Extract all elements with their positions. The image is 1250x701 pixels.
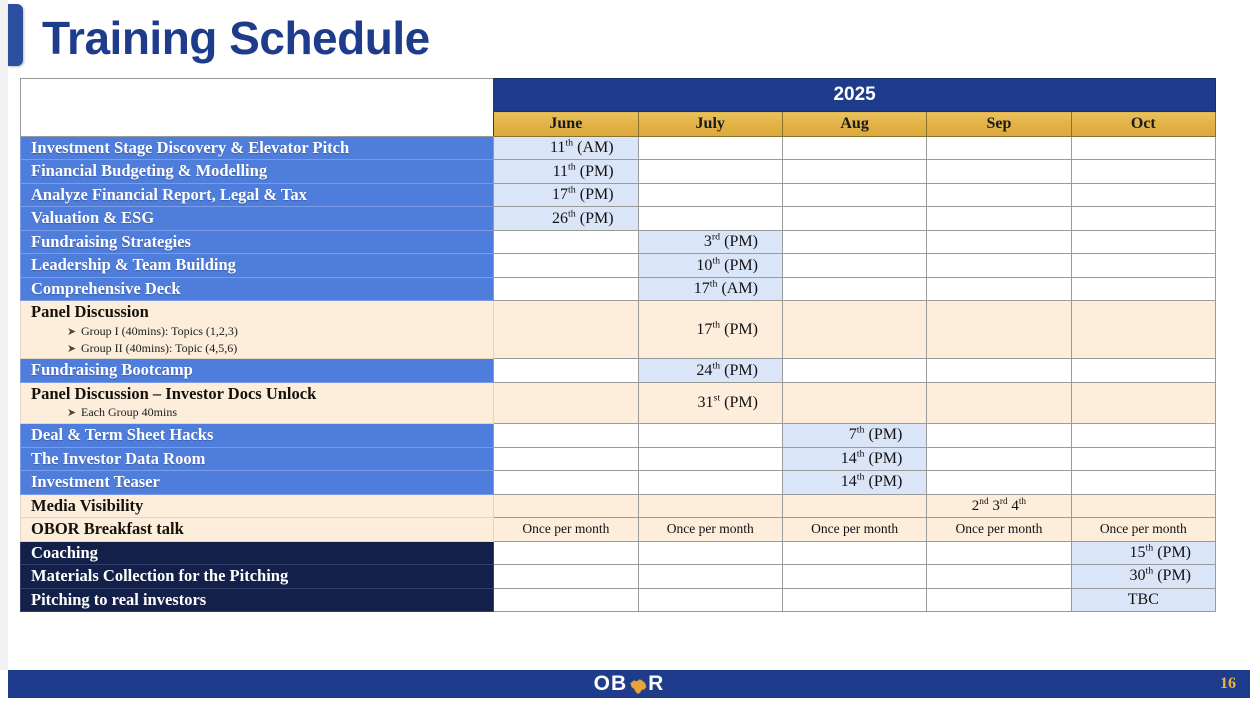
schedule-cell-july [638,424,782,447]
schedule-cell-july [638,207,782,230]
schedule-cell-sep [927,230,1071,253]
topic-cell: Deal & Term Sheet Hacks [21,424,494,447]
table-row: Fundraising Strategies 3rd (PM) [21,230,1216,253]
topic-cell: Coaching [21,541,494,564]
date-label: 17th (AM) [694,280,758,297]
table-row: Materials Collection for the Pitching 30… [21,565,1216,588]
multi-date-label: 2nd 3rd 4th [972,498,1026,514]
schedule-cell-aug: Once per month [782,518,926,541]
schedule-cell-aug [782,359,926,382]
slide-footer: OB R 16 [8,670,1250,698]
schedule-cell-oct [1071,471,1215,494]
date-label: 26th (PM) [552,210,614,227]
schedule-cell-aug [782,137,926,160]
header-row-year: 2025 [21,79,1216,112]
schedule-cell-aug [782,160,926,183]
topic-label: Panel Discussion – Investor Docs Unlock [31,385,489,403]
month-header-june: June [494,112,638,137]
date-label: 17th (PM) [552,186,614,203]
schedule-cell-sep [927,588,1071,611]
topic-cell: Analyze Financial Report, Legal & Tax [21,183,494,206]
schedule-cell-june [494,471,638,494]
logo-text-left: OB [594,672,628,696]
schedule-cell-sep [927,137,1071,160]
schedule-cell-july [638,137,782,160]
topic-sub-list: ➤Each Group 40mins [31,404,489,421]
date-label: 3rd (PM) [704,233,758,250]
topic-cell: Fundraising Strategies [21,230,494,253]
topic-label: Valuation & ESG [31,209,489,227]
schedule-cell-sep [927,424,1071,447]
schedule-cell-oct [1071,254,1215,277]
topic-label: Fundraising Strategies [31,233,489,251]
topic-sub-list: ➤Group I (40mins): Topics (1,2,3)➤Group … [31,323,489,357]
month-header-aug: Aug [782,112,926,137]
topic-cell: The Investor Data Room [21,447,494,470]
schedule-cell-oct [1071,207,1215,230]
schedule-cell-june [494,230,638,253]
topic-label: Materials Collection for the Pitching [31,567,489,585]
slide-canvas: Training Schedule 2025 JuneJulyAugSepOct… [0,0,1250,698]
schedule-cell-july [638,447,782,470]
arrow-bullet-icon: ➤ [67,406,81,421]
schedule-cell-oct [1071,183,1215,206]
arrow-bullet-icon: ➤ [67,325,81,340]
schedule-cell-aug: 14th (PM) [782,447,926,470]
schedule-cell-aug [782,382,926,423]
schedule-cell-sep [927,565,1071,588]
schedule-cell-aug [782,207,926,230]
topic-cell: Fundraising Bootcamp [21,359,494,382]
schedule-cell-june: Once per month [494,518,638,541]
month-header-oct: Oct [1071,112,1215,137]
schedule-cell-aug [782,183,926,206]
schedule-cell-oct: 30th (PM) [1071,565,1215,588]
schedule-cell-oct [1071,160,1215,183]
topic-cell: Leadership & Team Building [21,254,494,277]
schedule-cell-june: 11th (PM) [494,160,638,183]
frequency-label: Once per month [787,521,922,537]
schedule-cell-sep [927,301,1071,359]
schedule-cell-june [494,447,638,470]
table-row: Comprehensive Deck 17th (AM) [21,277,1216,300]
topic-cell: Media Visibility [21,494,494,517]
date-label: 11th (AM) [550,139,614,156]
schedule-cell-aug [782,541,926,564]
table-row: Valuation & ESG26th (PM) [21,207,1216,230]
obor-logo: OB R [594,672,665,696]
date-label: 31st (PM) [698,394,758,411]
schedule-cell-oct [1071,447,1215,470]
schedule-cell-july [638,160,782,183]
topic-column-header [21,79,494,137]
sub-item-label: Group I (40mins): Topics (1,2,3) [81,324,238,338]
schedule-cell-july: 17th (AM) [638,277,782,300]
topic-label: Pitching to real investors [31,591,489,609]
list-item: ➤Each Group 40mins [67,404,489,421]
topic-label: Coaching [31,544,489,562]
date-label: 30th (PM) [1130,567,1192,584]
topic-cell: Valuation & ESG [21,207,494,230]
schedule-cell-oct [1071,137,1215,160]
schedule-cell-aug [782,565,926,588]
arrow-bullet-icon: ➤ [67,342,81,357]
schedule-cell-june [494,301,638,359]
topic-cell: OBOR Breakfast talk [21,518,494,541]
schedule-cell-june [494,494,638,517]
date-label: 7th (PM) [849,426,903,443]
table-row: Fundraising Bootcamp 24th (PM) [21,359,1216,382]
schedule-cell-sep [927,183,1071,206]
topic-cell: Comprehensive Deck [21,277,494,300]
topic-label: Analyze Financial Report, Legal & Tax [31,186,489,204]
schedule-cell-july [638,494,782,517]
schedule-cell-june [494,424,638,447]
topic-cell: Materials Collection for the Pitching [21,565,494,588]
schedule-cell-june: 26th (PM) [494,207,638,230]
list-item: ➤Group II (40mins): Topic (4,5,6) [67,340,489,357]
schedule-cell-june [494,277,638,300]
table-row: Financial Budgeting & Modelling11th (PM) [21,160,1216,183]
table-body: Investment Stage Discovery & Elevator Pi… [21,137,1216,612]
schedule-cell-july: 31st (PM) [638,382,782,423]
topic-cell: Investment Teaser [21,471,494,494]
table-row: Pitching to real investors TBC [21,588,1216,611]
schedule-cell-july [638,541,782,564]
schedule-cell-sep [927,160,1071,183]
frequency-label: Once per month [931,521,1066,537]
topic-label: Deal & Term Sheet Hacks [31,426,489,444]
schedule-cell-june: 17th (PM) [494,183,638,206]
topic-label: Financial Budgeting & Modelling [31,162,489,180]
topic-cell: Pitching to real investors [21,588,494,611]
date-label: 24th (PM) [696,362,758,379]
schedule-cell-aug [782,230,926,253]
date-label: 15th (PM) [1130,544,1192,561]
nigeria-map-icon [628,677,647,694]
schedule-cell-june [494,565,638,588]
frequency-label: Once per month [498,521,633,537]
schedule-cell-oct [1071,359,1215,382]
schedule-cell-sep [927,277,1071,300]
table-header: 2025 JuneJulyAugSepOct [21,79,1216,137]
schedule-cell-june [494,382,638,423]
table-row: Investment Stage Discovery & Elevator Pi… [21,137,1216,160]
page-left-edge [0,0,8,670]
schedule-cell-aug: 14th (PM) [782,471,926,494]
schedule-cell-july: Once per month [638,518,782,541]
table-row: Panel Discussion➤Group I (40mins): Topic… [21,301,1216,359]
schedule-cell-sep [927,359,1071,382]
month-header-sep: Sep [927,112,1071,137]
schedule-cell-aug [782,301,926,359]
topic-label: Investment Stage Discovery & Elevator Pi… [31,139,489,157]
schedule-cell-oct [1071,494,1215,517]
schedule-cell-july: 3rd (PM) [638,230,782,253]
date-label: TBC [1128,591,1159,608]
schedule-cell-aug [782,254,926,277]
schedule-cell-sep [927,254,1071,277]
schedule-cell-sep [927,207,1071,230]
schedule-cell-aug: 7th (PM) [782,424,926,447]
schedule-cell-sep [927,541,1071,564]
table-row: Investment Teaser 14th (PM) [21,471,1216,494]
schedule-cell-oct: 15th (PM) [1071,541,1215,564]
topic-label: Leadership & Team Building [31,256,489,274]
date-label: 14th (PM) [841,473,903,490]
table-row: Deal & Term Sheet Hacks 7th (PM) [21,424,1216,447]
schedule-cell-july [638,588,782,611]
schedule-cell-oct [1071,424,1215,447]
month-header-july: July [638,112,782,137]
schedule-cell-sep [927,471,1071,494]
schedule-cell-june: 11th (AM) [494,137,638,160]
schedule-cell-june [494,541,638,564]
schedule-cell-june [494,359,638,382]
date-label: 10th (PM) [696,257,758,274]
topic-label: OBOR Breakfast talk [31,520,489,538]
table-row: Coaching 15th (PM) [21,541,1216,564]
date-label: 17th (PM) [696,321,758,338]
schedule-cell-oct: Once per month [1071,518,1215,541]
table-row: Analyze Financial Report, Legal & Tax17t… [21,183,1216,206]
topic-cell: Panel Discussion➤Group I (40mins): Topic… [21,301,494,359]
table-row: Panel Discussion – Investor Docs Unlock➤… [21,382,1216,423]
schedule-cell-aug [782,494,926,517]
topic-label: Comprehensive Deck [31,280,489,298]
schedule-cell-july: 10th (PM) [638,254,782,277]
schedule-cell-aug [782,277,926,300]
schedule-cell-sep: 2nd 3rd 4th [927,494,1071,517]
table-row: Media Visibility 2nd 3rd 4th [21,494,1216,517]
schedule-cell-july [638,471,782,494]
topic-cell: Investment Stage Discovery & Elevator Pi… [21,137,494,160]
table-row: The Investor Data Room 14th (PM) [21,447,1216,470]
topic-label: The Investor Data Room [31,450,489,468]
schedule-cell-oct [1071,230,1215,253]
schedule-cell-oct [1071,382,1215,423]
list-item: ➤Group I (40mins): Topics (1,2,3) [67,323,489,340]
logo-text-right: R [648,672,664,696]
frequency-label: Once per month [1076,521,1211,537]
page-number: 16 [1220,675,1236,693]
schedule-cell-june [494,588,638,611]
topic-cell: Financial Budgeting & Modelling [21,160,494,183]
schedule-cell-july [638,183,782,206]
title-accent-bar [8,4,23,66]
topic-label: Panel Discussion [31,303,489,321]
table-row: OBOR Breakfast talkOnce per monthOnce pe… [21,518,1216,541]
date-label: 14th (PM) [841,450,903,467]
table-row: Leadership & Team Building 10th (PM) [21,254,1216,277]
sub-item-label: Each Group 40mins [81,405,177,419]
date-label: 11th (PM) [553,163,614,180]
schedule-cell-aug [782,588,926,611]
schedule-cell-sep [927,447,1071,470]
year-header: 2025 [494,79,1216,112]
schedule-cell-july: 24th (PM) [638,359,782,382]
frequency-label: Once per month [643,521,778,537]
schedule-cell-oct: TBC [1071,588,1215,611]
topic-label: Investment Teaser [31,473,489,491]
schedule-cell-oct [1071,277,1215,300]
training-schedule-table: 2025 JuneJulyAugSepOct Investment Stage … [20,78,1216,612]
schedule-cell-july: 17th (PM) [638,301,782,359]
topic-label: Fundraising Bootcamp [31,361,489,379]
sub-item-label: Group II (40mins): Topic (4,5,6) [81,341,237,355]
schedule-cell-sep: Once per month [927,518,1071,541]
page-title: Training Schedule [42,11,430,65]
schedule-cell-oct [1071,301,1215,359]
schedule-cell-july [638,565,782,588]
topic-label: Media Visibility [31,497,489,515]
schedule-cell-sep [927,382,1071,423]
schedule-cell-june [494,254,638,277]
topic-cell: Panel Discussion – Investor Docs Unlock➤… [21,382,494,423]
